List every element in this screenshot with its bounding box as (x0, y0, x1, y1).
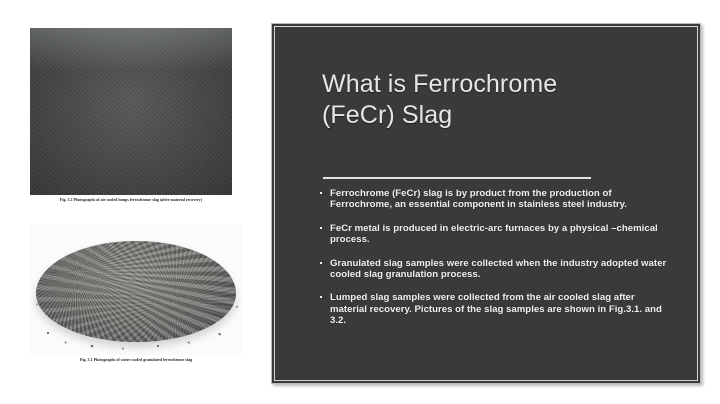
slag-speckle-overlay (30, 233, 242, 353)
granulated-slag-photo (30, 225, 242, 355)
rock-vignette-overlay (30, 28, 232, 195)
bullet-text: Lumped slag samples were collected from … (330, 292, 662, 326)
slide-content-panel: What is Ferrochrome (FeCr) Slag Ferrochr… (271, 23, 701, 384)
presentation-slide: Fig. 3.2 Photographs of air cooled lumps… (0, 0, 720, 404)
slide-title: What is Ferrochrome (FeCr) Slag (322, 69, 662, 131)
bullet-item: Ferrochrome (FeCr) slag is by product fr… (319, 188, 674, 211)
panel-inner-border: What is Ferrochrome (FeCr) Slag Ferrochr… (274, 26, 698, 381)
bullet-text: Ferrochrome (FeCr) slag is by product fr… (330, 188, 627, 210)
figure-caption-granulated: Fig. 3.1 Photographs of water cooled gra… (30, 358, 242, 363)
bullet-marker-icon (320, 227, 322, 229)
figure-caption-lumped: Fig. 3.2 Photographs of air cooled lumps… (30, 198, 232, 203)
bullet-list: Ferrochrome (FeCr) slag is by product fr… (319, 188, 674, 327)
figure-lumped-slag: Fig. 3.2 Photographs of air cooled lumps… (30, 28, 232, 203)
bullet-item: Lumped slag samples were collected from … (319, 292, 674, 326)
bullet-marker-icon (320, 296, 322, 298)
lumped-slag-photo (30, 28, 232, 195)
bullet-marker-icon (320, 192, 322, 194)
figure-granulated-slag: Fig. 3.1 Photographs of water cooled gra… (30, 225, 242, 363)
title-divider-rule (323, 177, 591, 179)
bullet-text: Granulated slag samples were collected w… (330, 258, 666, 280)
slide-title-line-1: What is Ferrochrome (322, 69, 662, 100)
slide-title-line-2: (FeCr) Slag (322, 100, 662, 131)
bullet-marker-icon (320, 262, 322, 264)
bullet-item: Granulated slag samples were collected w… (319, 258, 674, 281)
bullet-text: FeCr metal is produced in electric-arc f… (330, 223, 658, 245)
bullet-item: FeCr metal is produced in electric-arc f… (319, 223, 674, 246)
